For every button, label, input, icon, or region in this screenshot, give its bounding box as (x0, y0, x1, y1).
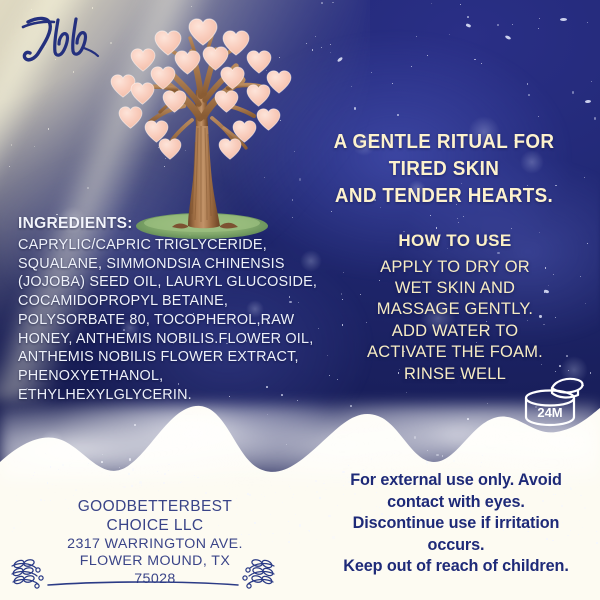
headline-line-1: A GENTLE RITUAL FOR TIRED SKIN (308, 128, 580, 182)
laurel-leaf-right (243, 559, 274, 588)
ingredient-line-3: (JOJOBA) SEED OIL, LAURYL GLUCOSIDE, (18, 273, 348, 292)
laurel-divider (4, 552, 282, 598)
pao-label: 24M (537, 405, 562, 420)
how-to-use-line-4: ADD WATER TO (330, 321, 580, 342)
headline: A GENTLE RITUAL FOR TIRED SKIN AND TENDE… (308, 128, 580, 209)
how-to-use-line-1: APPLY TO DRY OR (330, 257, 580, 278)
jbb-script-logo (14, 8, 106, 70)
warning-text: For external use only. Avoidcontact with… (318, 470, 594, 578)
ingredient-line-4: COCAMIDOPROPYL BETAINE, (18, 292, 348, 311)
ingredient-line-1: CAPRYLIC/CAPRIC TRIGLYCERIDE, (18, 236, 348, 255)
address-company-line-2: CHOICE LLC (30, 517, 280, 536)
warning-line-1: For external use only. Avoid (318, 470, 594, 492)
ingredient-line-2: SQUALANE, SIMMONDSIA CHINENSIS (18, 255, 348, 274)
address-company-line-1: GOODBETTERBEST (30, 498, 280, 517)
address-street: 2317 WARRINGTON AVE. (30, 536, 280, 554)
warning-line-4: occurs. (318, 535, 594, 557)
headline-line-2: AND TENDER HEARTS. (308, 182, 580, 209)
how-to-use-block: HOW TO USE APPLY TO DRY ORWET SKIN ANDMA… (330, 228, 580, 385)
ingredient-line-6: HONEY, ANTHEMIS NOBILIS.FLOWER OIL, (18, 330, 348, 349)
heart-tree-illustration (96, 8, 308, 240)
ingredient-line-7: ANTHEMIS NOBILIS FLOWER EXTRACT, (18, 348, 348, 367)
how-to-use-line-3: MASSAGE GENTLY. (330, 299, 580, 320)
warning-line-5: Keep out of reach of children. (318, 556, 594, 578)
how-to-use-steps: APPLY TO DRY ORWET SKIN ANDMASSAGE GENTL… (330, 257, 580, 386)
laurel-leaf-left (12, 559, 43, 588)
ingredients-heading: INGREDIENTS: (18, 214, 348, 235)
warning-line-2: contact with eyes. (318, 492, 594, 514)
how-to-use-title: HOW TO USE (330, 228, 580, 254)
how-to-use-line-5: ACTIVATE THE FOAM. (330, 342, 580, 363)
ingredient-line-5: POLYSORBATE 80, TOCOPHEROL,RAW (18, 311, 348, 330)
product-label-canvas: A GENTLE RITUAL FOR TIRED SKIN AND TENDE… (0, 0, 600, 600)
divider-line (48, 582, 238, 585)
warning-line-3: Discontinue use if irritation (318, 513, 594, 535)
open-jar-icon: 24M (516, 372, 586, 428)
how-to-use-line-2: WET SKIN AND (330, 278, 580, 299)
